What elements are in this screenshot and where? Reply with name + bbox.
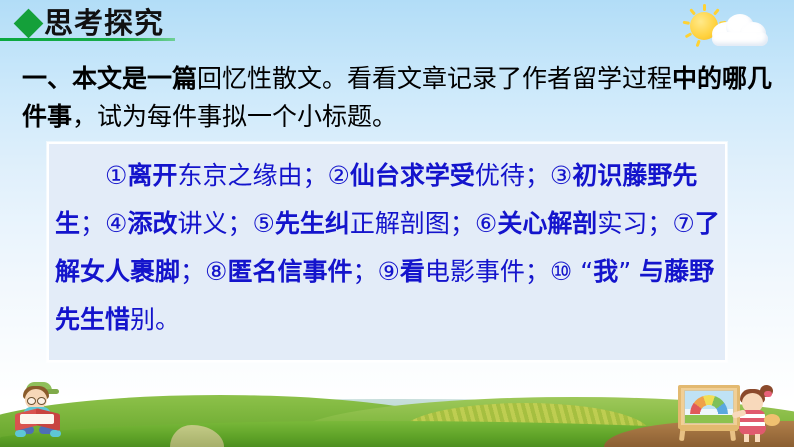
- sun-ray-icon: [696, 40, 701, 48]
- answer-segment: ”: [618, 257, 639, 286]
- answer-segment: 仙台求学受: [350, 161, 475, 190]
- glasses-right-icon: [37, 397, 46, 405]
- kid-painting-easel-illustration: [676, 377, 786, 443]
- sun-ray-icon: [713, 8, 720, 15]
- answer-segment: ；⑥: [450, 209, 497, 238]
- answer-segment: 我: [593, 257, 618, 286]
- answer-segment: ；⑩ “: [525, 257, 593, 286]
- answer-segment: 正解剖图: [350, 209, 450, 238]
- question-normal-tail: ，试为每件事拟一个小标题。: [72, 102, 397, 131]
- leg-right-icon: [755, 434, 760, 442]
- question-prompt: 一、本文是一篇回忆性散文。看看文章记录了作者留学过程中的哪几件事，试为每件事拟一…: [22, 60, 774, 136]
- answer-segment: 讲义: [177, 209, 227, 238]
- easel-tray-icon: [680, 425, 738, 431]
- sun-cloud-icon: [682, 2, 778, 56]
- hair-tie-icon: [764, 391, 772, 397]
- cloud-icon: [712, 32, 768, 46]
- palette-icon: [764, 414, 780, 426]
- question-bold-lead: 一、本文是一篇: [22, 64, 197, 93]
- answer-segment: 先生纠: [275, 209, 350, 238]
- answer-segment: 匿名信事件: [227, 257, 352, 286]
- question-normal-mid: 回忆性散文。看看文章记录了作者留学过程: [197, 64, 672, 93]
- slide-canvas: 思考探究 一、本文是一篇回忆性散文。看看文章记录了作者留学过程中的哪几件事，试为…: [0, 0, 794, 447]
- sun-ray-icon: [685, 32, 693, 38]
- page-title: 思考探究: [44, 4, 164, 42]
- green-diamond-icon: [14, 9, 44, 39]
- scenery-footer: [0, 387, 794, 447]
- header-underline-divider: [0, 38, 175, 41]
- answer-segment: 实习: [597, 209, 647, 238]
- sun-ray-icon: [683, 21, 690, 25]
- shoe-left-icon: [15, 430, 26, 437]
- answer-segment: ①: [105, 161, 127, 190]
- book-pages-icon: [20, 414, 54, 424]
- answer-segment: 添改: [127, 209, 177, 238]
- answer-segment: 电影事件: [425, 257, 525, 286]
- answer-text: ①离开东京之缘由；②仙台求学受优待；③初识藤野先生；④添改讲义；⑤先生纠正解剖图…: [55, 152, 723, 344]
- answer-segment: 离开: [127, 161, 177, 190]
- answer-segment: 优待: [475, 161, 525, 190]
- sun-ray-icon: [689, 8, 696, 15]
- answer-box: ①离开东京之缘由；②仙台求学受优待；③初识藤野先生；④添改讲义；⑤先生纠正解剖图…: [47, 142, 727, 362]
- answer-segment: ；④: [80, 209, 127, 238]
- kid-reading-book-illustration: [12, 381, 72, 439]
- sun-ray-icon: [703, 4, 706, 11]
- answer-segment: ；③: [525, 161, 572, 190]
- answer-segment: ；⑨: [352, 257, 399, 286]
- answer-segment: 东京之缘由；②: [177, 161, 349, 190]
- leg-left-icon: [744, 434, 749, 442]
- shoe-right-icon: [50, 430, 61, 437]
- answer-segment: ；⑦: [647, 209, 694, 238]
- answer-segment: 看: [400, 257, 425, 286]
- answer-segment: ；⑧: [180, 257, 227, 286]
- answer-segment: ；⑤: [227, 209, 274, 238]
- answer-segment: 关心解剖: [497, 209, 597, 238]
- glasses-left-icon: [27, 397, 36, 405]
- answer-segment: 别。: [130, 305, 180, 334]
- painted-grass-icon: [685, 415, 733, 423]
